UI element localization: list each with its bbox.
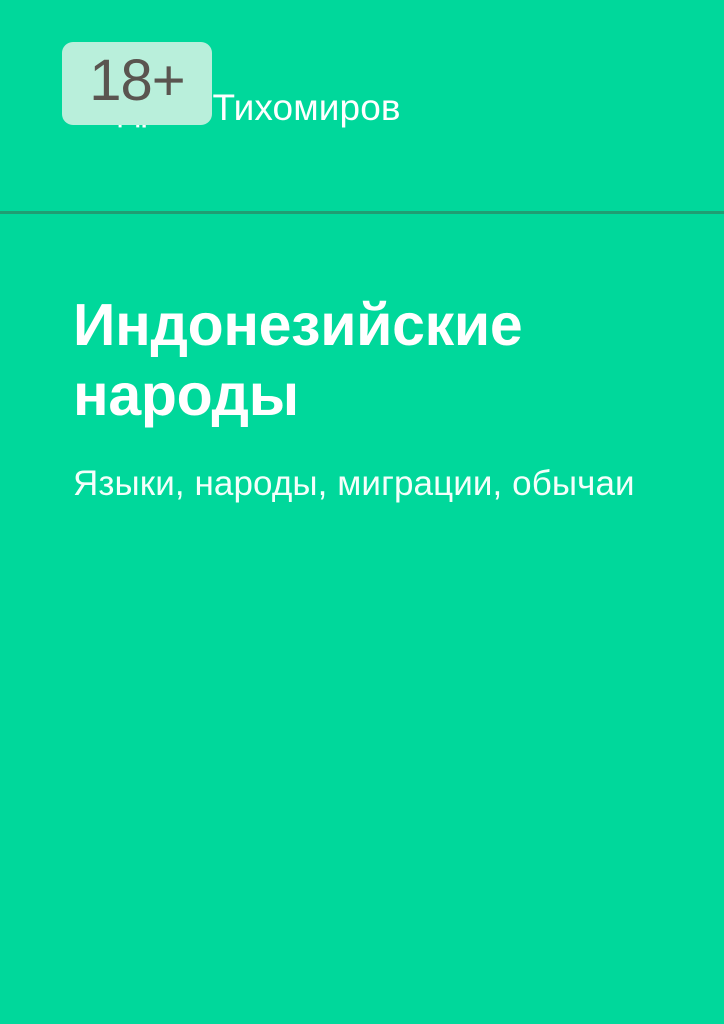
age-rating-badge: 18+ — [62, 42, 212, 125]
book-subtitle: Языки, народы, миграции, обычаи — [73, 430, 653, 508]
cover-header-band: Андрей Тихомиров 18+ — [0, 0, 724, 212]
cover-main-block: Индонезийские народы Языки, народы, мигр… — [73, 290, 663, 508]
book-cover: Андрей Тихомиров 18+ Индонезийские народ… — [0, 0, 724, 1024]
age-rating-label: 18+ — [62, 39, 212, 122]
header-divider — [0, 211, 724, 214]
book-title: Индонезийские народы — [73, 290, 663, 430]
